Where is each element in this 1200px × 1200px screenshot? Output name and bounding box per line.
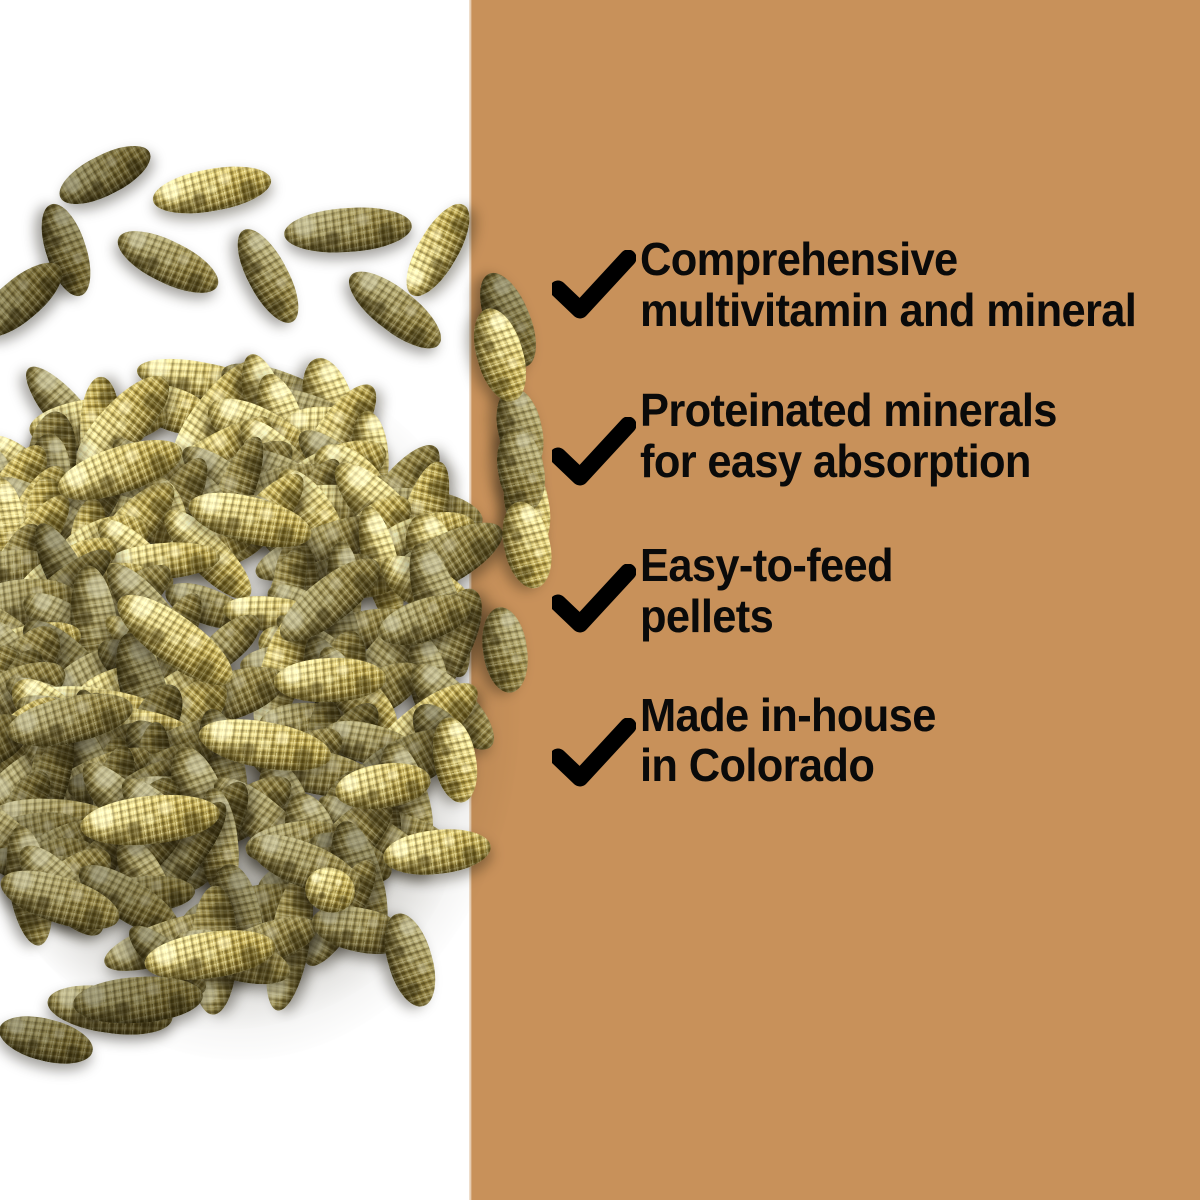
checkmark-icon: [552, 564, 636, 634]
pellet: [72, 973, 205, 1028]
benefit-item-easy-to-feed: Easy-to-feed pellets: [548, 538, 1188, 641]
product-feature-graphic: Comprehensive multivitamin and mineral P…: [0, 0, 1200, 1200]
checkmark-icon: [552, 250, 636, 320]
benefit-label: Proteinated minerals for easy absorption: [640, 383, 1158, 486]
benefits-list: Comprehensive multivitamin and mineral P…: [548, 232, 1188, 791]
pellet: [109, 219, 226, 305]
benefit-label: Made in-house in Colorado: [640, 688, 1158, 791]
benefit-label: Easy-to-feed pellets: [640, 538, 1158, 641]
check-slot: [548, 232, 640, 316]
benefit-item-made-in-colorado: Made in-house in Colorado: [548, 688, 1188, 791]
pellet: [283, 204, 414, 257]
pellet: [395, 195, 482, 305]
benefit-item-proteinated: Proteinated minerals for easy absorption: [548, 383, 1188, 486]
benefit-item-multivitamin: Comprehensive multivitamin and mineral: [548, 232, 1188, 335]
check-slot: [548, 688, 640, 772]
check-slot: [548, 538, 640, 622]
check-slot: [548, 383, 640, 467]
checkmark-icon: [552, 417, 636, 487]
benefit-label: Comprehensive multivitamin and mineral: [640, 232, 1158, 335]
pellet: [51, 134, 158, 215]
pellet: [149, 159, 274, 221]
checkmark-icon: [552, 718, 636, 788]
pellet-pile-image: [0, 0, 600, 1200]
pellet: [477, 604, 533, 695]
